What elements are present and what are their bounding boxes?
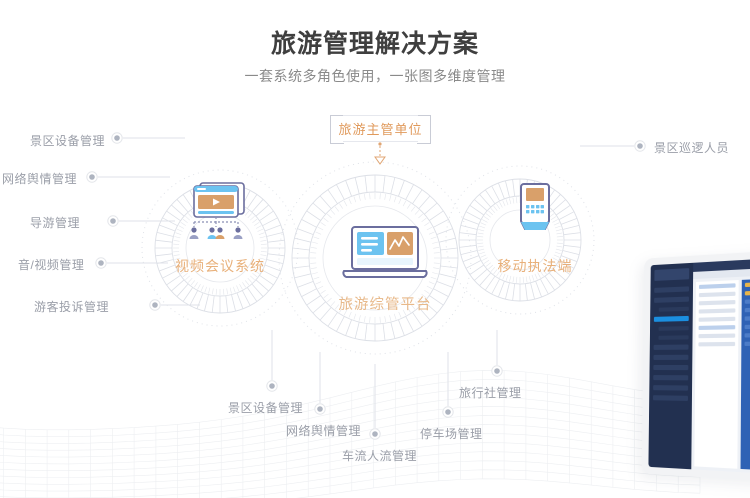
left-label-0[interactable]: 景区设备管理 [30,132,105,149]
connector-dot [370,429,380,439]
video-conference-icon [174,180,266,246]
product-screenshot-mockup [643,258,750,473]
node-platform-label: 旅游综管平台 [305,293,465,314]
mockup-sidebar [648,263,693,470]
node-mobile-law-label: 移动执法端 [460,256,610,276]
connector-dot [315,404,325,414]
left-label-4[interactable]: 游客投诉管理 [34,298,109,315]
bottom-label-4[interactable]: 旅行社管理 [459,384,522,401]
left-label-3[interactable]: 音/视频管理 [18,256,84,273]
mockup-screen [648,258,750,474]
connector-dot [150,300,160,310]
connector-dot [108,216,118,226]
left-label-2[interactable]: 导游管理 [30,214,80,231]
connector-dot [267,381,277,391]
bottom-label-2[interactable]: 车流人流管理 [342,447,417,464]
connector-dot [96,258,106,268]
authority-badge[interactable]: 旅游主管单位 [330,115,431,142]
node-video-conference-label: 视频会议系统 [150,256,290,276]
solution-diagram-canvas: 旅游管理解决方案 一套系统多角色使用，一张图多维度管理 旅游主管单位 [0,0,750,498]
bottom-label-1[interactable]: 网络舆情管理 [286,422,361,439]
authority-badge-label: 旅游主管单位 [338,119,422,138]
laptop-dashboard-icon [338,225,432,283]
node-mobile-law[interactable]: 移动执法端 [460,180,610,276]
left-label-1[interactable]: 网络舆情管理 [2,170,77,187]
right-label-0[interactable]: 景区巡逻人员 [654,139,729,156]
bottom-label-3[interactable]: 停车场管理 [420,425,483,442]
node-platform[interactable]: 旅游综管平台 [305,225,465,314]
connector-dot [112,133,122,143]
badge-border-top [343,115,418,116]
node-video-conference[interactable]: 视频会议系统 [150,180,290,276]
badge-border-bottom [343,141,418,142]
connector-dot [492,366,502,376]
connector-dot [635,141,645,151]
mobile-device-icon [506,180,564,246]
mockup-body [642,250,750,482]
connector-dot [443,407,453,417]
connector-dot [87,172,97,182]
mockup-main-panel [691,258,750,474]
bottom-label-0[interactable]: 景区设备管理 [228,399,303,416]
